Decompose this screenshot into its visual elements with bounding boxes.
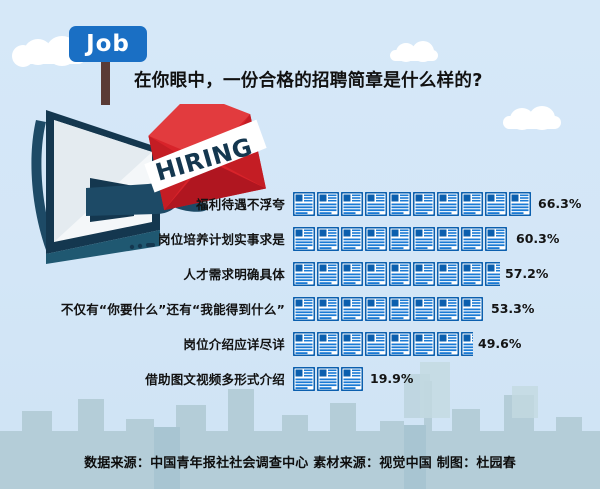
chart-row-label: 岗位介绍应详尽详 <box>0 334 285 353</box>
chart-row-bar <box>293 297 486 321</box>
chart-row-label: 福利待遇不浮夸 <box>0 194 285 213</box>
document-icon <box>509 192 531 216</box>
document-icon <box>389 262 411 286</box>
chart-row-value: 53.3% <box>491 301 534 316</box>
document-icon <box>413 332 435 356</box>
document-icon <box>461 227 483 251</box>
document-icon <box>341 297 363 321</box>
document-icon <box>365 192 387 216</box>
job-sign-label: Job <box>69 26 147 62</box>
document-icon <box>365 297 387 321</box>
document-icon <box>413 262 435 286</box>
document-icon <box>317 297 339 321</box>
chart-row-bar <box>293 332 473 356</box>
document-icon <box>389 192 411 216</box>
document-icon <box>341 227 363 251</box>
document-icon <box>461 192 483 216</box>
document-icon <box>461 332 473 356</box>
chart-row: 福利待遇不浮夸 <box>0 186 600 221</box>
document-icon <box>317 367 339 391</box>
document-icon <box>413 297 435 321</box>
chart-row-bar <box>293 192 533 216</box>
cloud-right <box>503 116 561 129</box>
chart-row-value: 49.6% <box>478 336 521 351</box>
document-icon <box>365 262 387 286</box>
cloud-top-right <box>390 50 438 61</box>
document-icon <box>317 192 339 216</box>
document-icon <box>317 262 339 286</box>
chart-row-bar <box>293 227 511 251</box>
document-icon <box>293 367 315 391</box>
infographic-poster: Job 在你眼中，一份合格的招聘简章是什么样的? <box>0 0 600 489</box>
chart-row-bar <box>293 262 500 286</box>
document-icon <box>437 297 459 321</box>
chart-row: 人才需求明确具体 <box>0 256 600 291</box>
document-icon <box>317 227 339 251</box>
document-icon <box>461 262 483 286</box>
chart-row-value: 57.2% <box>505 266 548 281</box>
chart-row: 岗位介绍应详尽详 <box>0 326 600 361</box>
chart-row-label: 不仅有“你要什么”还有“我能得到什么” <box>0 299 285 318</box>
icon-bar-chart: 福利待遇不浮夸 <box>0 186 600 396</box>
job-sign-board: Job <box>69 26 147 62</box>
chart-row-label: 岗位培养计划实事求是 <box>0 229 285 248</box>
document-icon <box>341 367 363 391</box>
document-icon <box>437 262 459 286</box>
document-icon <box>437 227 459 251</box>
chart-row-value: 60.3% <box>516 231 559 246</box>
chart-row-label: 人才需求明确具体 <box>0 264 285 283</box>
document-icon <box>293 297 315 321</box>
document-icon <box>437 332 459 356</box>
chart-row: 不仅有“你要什么”还有“我能得到什么” <box>0 291 600 326</box>
document-icon <box>341 262 363 286</box>
chart-row-value: 19.9% <box>370 371 413 386</box>
source-footer: 数据来源：中国青年报社社会调查中心 素材来源：视觉中国 制图：杜园春 <box>0 452 600 471</box>
document-icon <box>485 262 500 286</box>
document-icon <box>341 192 363 216</box>
document-icon <box>341 332 363 356</box>
document-icon <box>389 227 411 251</box>
page-title: 在你眼中，一份合格的招聘简章是什么样的? <box>134 67 483 92</box>
document-icon <box>293 227 315 251</box>
document-icon <box>293 332 315 356</box>
document-icon <box>413 227 435 251</box>
document-icon <box>485 192 507 216</box>
signpost-pole <box>101 57 110 105</box>
document-icon <box>437 192 459 216</box>
document-icon <box>389 332 411 356</box>
document-icon <box>317 332 339 356</box>
chart-row-label: 借助图文视频多形式介绍 <box>0 369 285 388</box>
chart-row: 岗位培养计划实事求是 <box>0 221 600 256</box>
document-icon <box>365 227 387 251</box>
document-icon <box>413 192 435 216</box>
chart-row-value: 66.3% <box>538 196 581 211</box>
document-icon <box>389 297 411 321</box>
chart-row-bar <box>293 367 365 391</box>
document-icon <box>485 227 507 251</box>
document-icon <box>461 297 483 321</box>
document-icon <box>365 332 387 356</box>
document-icon <box>293 262 315 286</box>
document-icon <box>293 192 315 216</box>
chart-row: 借助图文视频多形式介绍 19.9% <box>0 361 600 396</box>
